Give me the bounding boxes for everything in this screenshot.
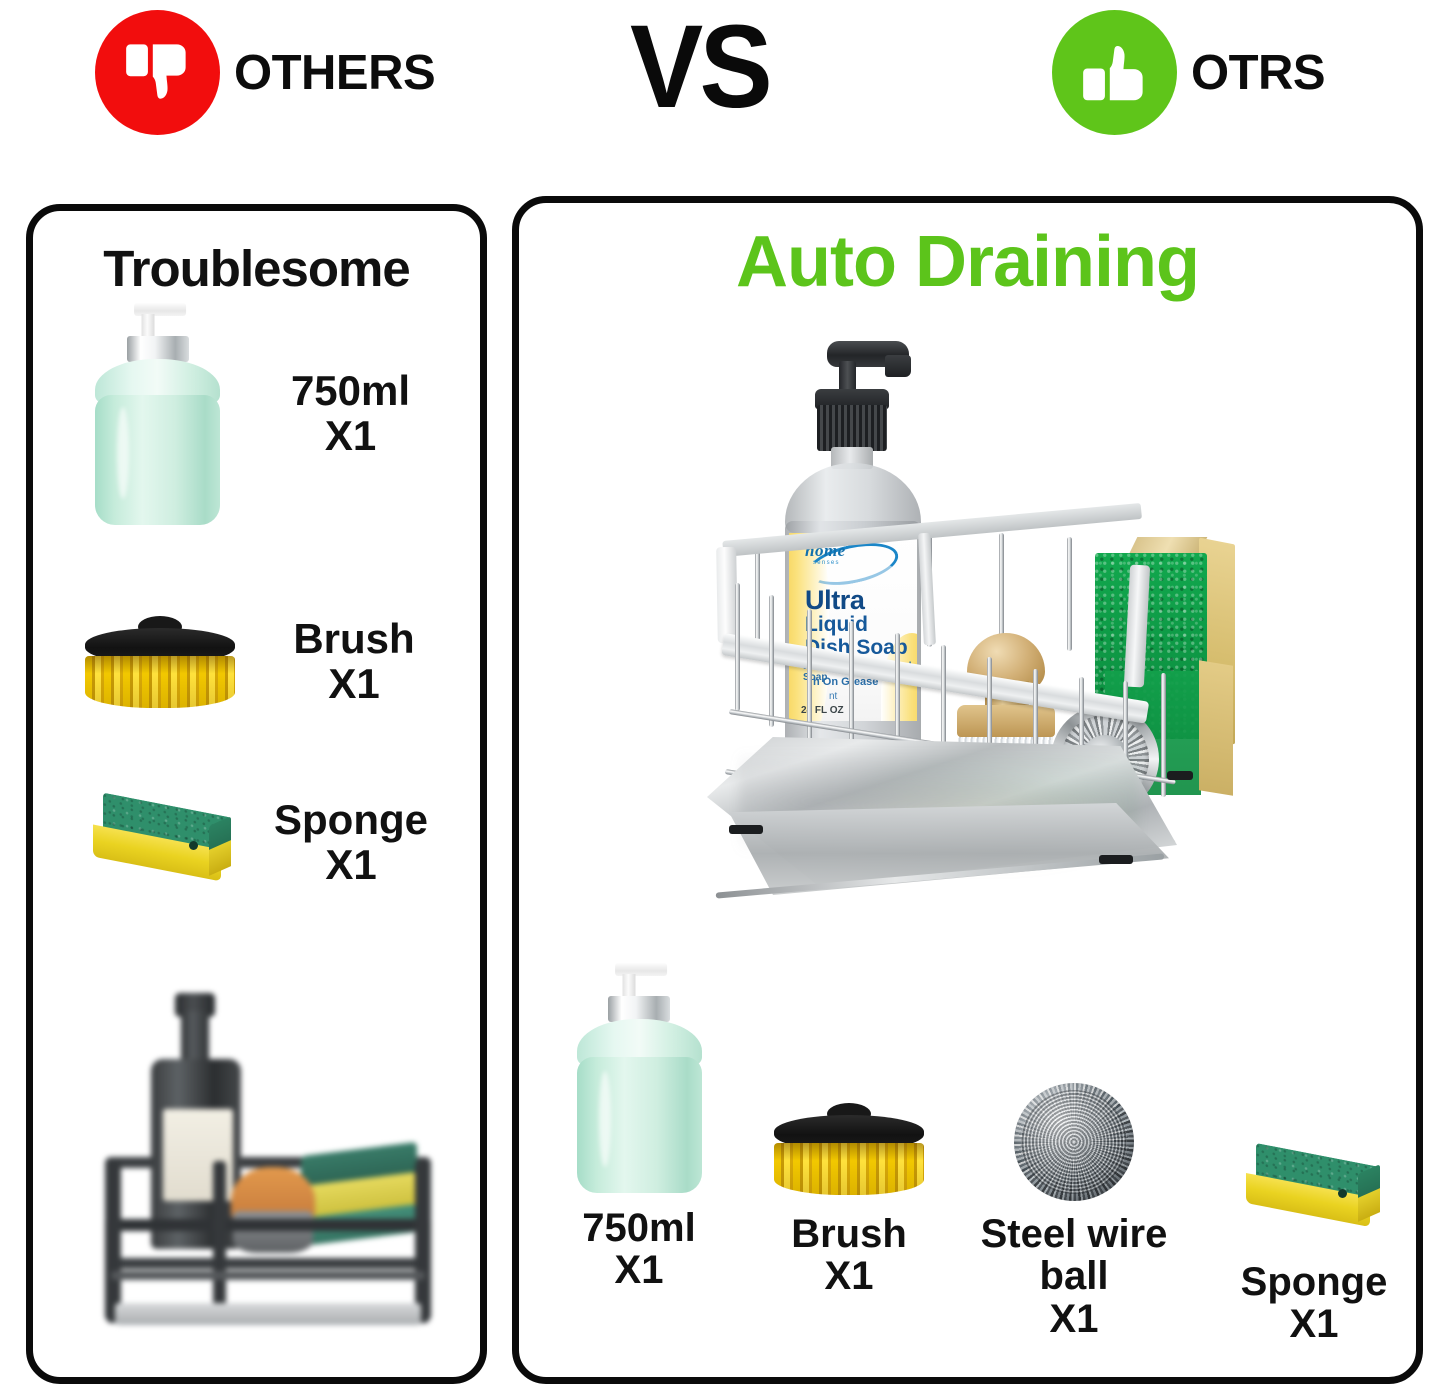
yellow-green-sponge-icon xyxy=(81,793,241,893)
others-badge-label: OTHERS xyxy=(234,45,435,101)
others-item-sponge-name: Sponge xyxy=(274,796,428,843)
others-panel-title: Troublesome xyxy=(33,239,480,298)
otrs-item-750ml-name: 750ml xyxy=(582,1206,695,1250)
vs-text: VS xyxy=(630,8,769,126)
otrs-item-brush-label: Brush X1 xyxy=(749,1213,949,1298)
otrs-panel: Auto Draining xyxy=(512,196,1423,1384)
others-item-750ml-name: 750ml xyxy=(291,367,410,414)
others-item-750ml-label: 750ml X1 xyxy=(246,369,455,458)
otrs-item-steel-wire-ball-qty: X1 xyxy=(959,1298,1189,1340)
otrs-badge-label: OTRS xyxy=(1191,45,1325,101)
otrs-badge-group: OTRS xyxy=(1052,10,1325,135)
header: OTHERS VS OTRS xyxy=(0,0,1445,190)
otrs-item-sponge-label: Sponge X1 xyxy=(1209,1261,1419,1346)
stainless-drip-tray xyxy=(699,333,1279,933)
others-item-brush-name: Brush xyxy=(293,615,414,662)
otrs-item-steel-wire-ball-label: Steel wire ball X1 xyxy=(959,1213,1189,1340)
thumbs-up-icon xyxy=(1052,10,1177,135)
otrs-item-750ml: 750ml X1 xyxy=(539,963,739,1292)
comparison-infographic: OTHERS VS OTRS Troublesome xyxy=(0,0,1445,1399)
otrs-item-brush-qty: X1 xyxy=(749,1255,949,1297)
otrs-item-steel-wire-ball: Steel wire ball X1 xyxy=(959,1083,1189,1340)
others-item-sponge-label: Sponge X1 xyxy=(247,798,455,887)
drill-brush-icon xyxy=(774,1103,924,1195)
otrs-item-sponge-qty: X1 xyxy=(1209,1303,1419,1345)
sink-caddy-hero-image: home senses Ultra Liquid Dish Soap and A… xyxy=(699,333,1279,973)
others-item-750ml-qty: X1 xyxy=(246,414,455,459)
drill-brush-icon xyxy=(85,616,235,708)
otrs-item-750ml-qty: X1 xyxy=(539,1249,739,1291)
others-item-sponge-qty: X1 xyxy=(247,843,455,888)
others-badge-group: OTHERS xyxy=(95,10,435,135)
otrs-item-steel-wire-ball-name-line2: ball xyxy=(959,1255,1189,1297)
mint-pump-bottle-icon xyxy=(95,303,220,525)
yellow-green-sponge-icon xyxy=(1234,1143,1394,1239)
others-item-sponge: Sponge X1 xyxy=(73,783,455,903)
otrs-item-brush-name: Brush xyxy=(791,1212,907,1256)
thumbs-down-icon xyxy=(95,10,220,135)
steel-wire-ball-icon xyxy=(1014,1083,1134,1201)
otrs-panel-title: Auto Draining xyxy=(519,221,1416,303)
otrs-item-brush: Brush X1 xyxy=(749,1103,949,1298)
others-item-brush-qty: X1 xyxy=(253,662,455,707)
otrs-item-750ml-label: 750ml X1 xyxy=(539,1207,739,1292)
mint-pump-bottle-icon xyxy=(577,963,702,1193)
otrs-item-steel-wire-ball-name-line1: Steel wire xyxy=(981,1212,1168,1256)
others-item-brush: Brush X1 xyxy=(73,607,455,717)
others-item-750ml: 750ml X1 xyxy=(73,299,455,529)
otrs-item-sponge-name: Sponge xyxy=(1241,1260,1388,1304)
others-item-brush-label: Brush X1 xyxy=(253,617,455,706)
otrs-item-sponge: Sponge X1 xyxy=(1209,1143,1419,1346)
others-panel: Troublesome 750ml X1 xyxy=(26,204,487,1384)
dark-sink-caddy-photo xyxy=(63,971,463,1361)
